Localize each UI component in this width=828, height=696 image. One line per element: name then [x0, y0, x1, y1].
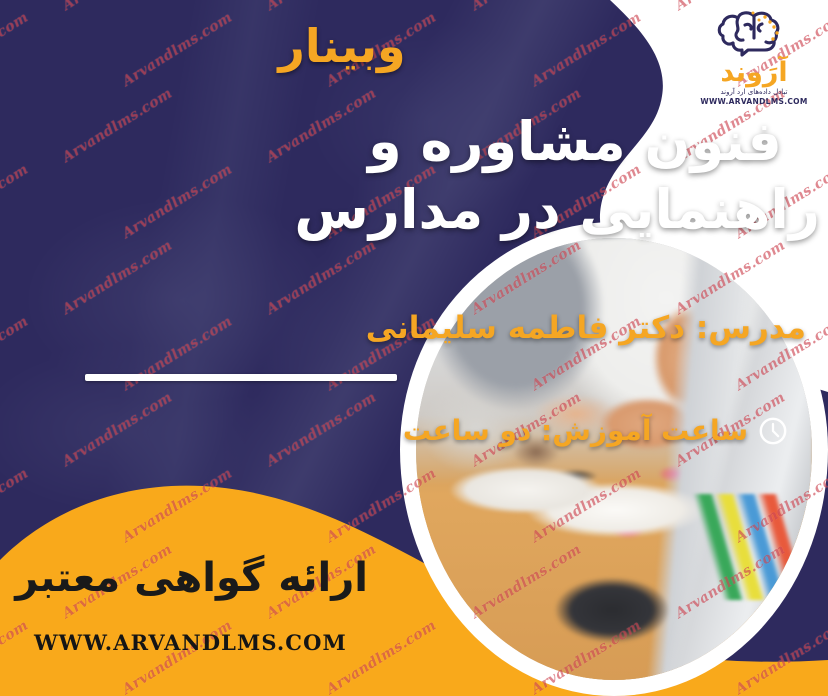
divider-line: [85, 374, 397, 381]
kicker-webinar: وبینار: [242, 22, 442, 70]
certificate-note: ارائه گواهی معتبر: [28, 555, 368, 601]
webinar-poster: وبینار فنون مشاوره و راهنمایی در مدارس م…: [0, 0, 828, 696]
clock-icon: [758, 416, 788, 446]
logo-tagline: تبادل داده‌های ارد آروند: [694, 89, 814, 96]
duration-row: ساعت آموزش: دو ساعت: [418, 414, 788, 447]
logo-url: WWW.ARVANDLMS.COM: [694, 98, 814, 106]
page-title: فنون مشاوره و راهنمایی در مدارس: [330, 108, 820, 244]
brain-speech-bubble-icon: [715, 8, 793, 58]
headline-line-2: راهنمایی در مدارس: [330, 176, 820, 244]
website-url: WWW.ARVANDLMS.COM: [34, 630, 374, 655]
instructor-name: مدرس: دکتر فاطمه سلیمانی: [406, 310, 806, 346]
logo-wordmark: آرَوند: [694, 59, 814, 86]
logo[interactable]: آرَوند تبادل داده‌های ارد آروند WWW.ARVA…: [694, 8, 814, 106]
duration-text: ساعت آموزش: دو ساعت: [403, 414, 748, 447]
headline-line-1: فنون مشاوره و: [330, 108, 820, 176]
